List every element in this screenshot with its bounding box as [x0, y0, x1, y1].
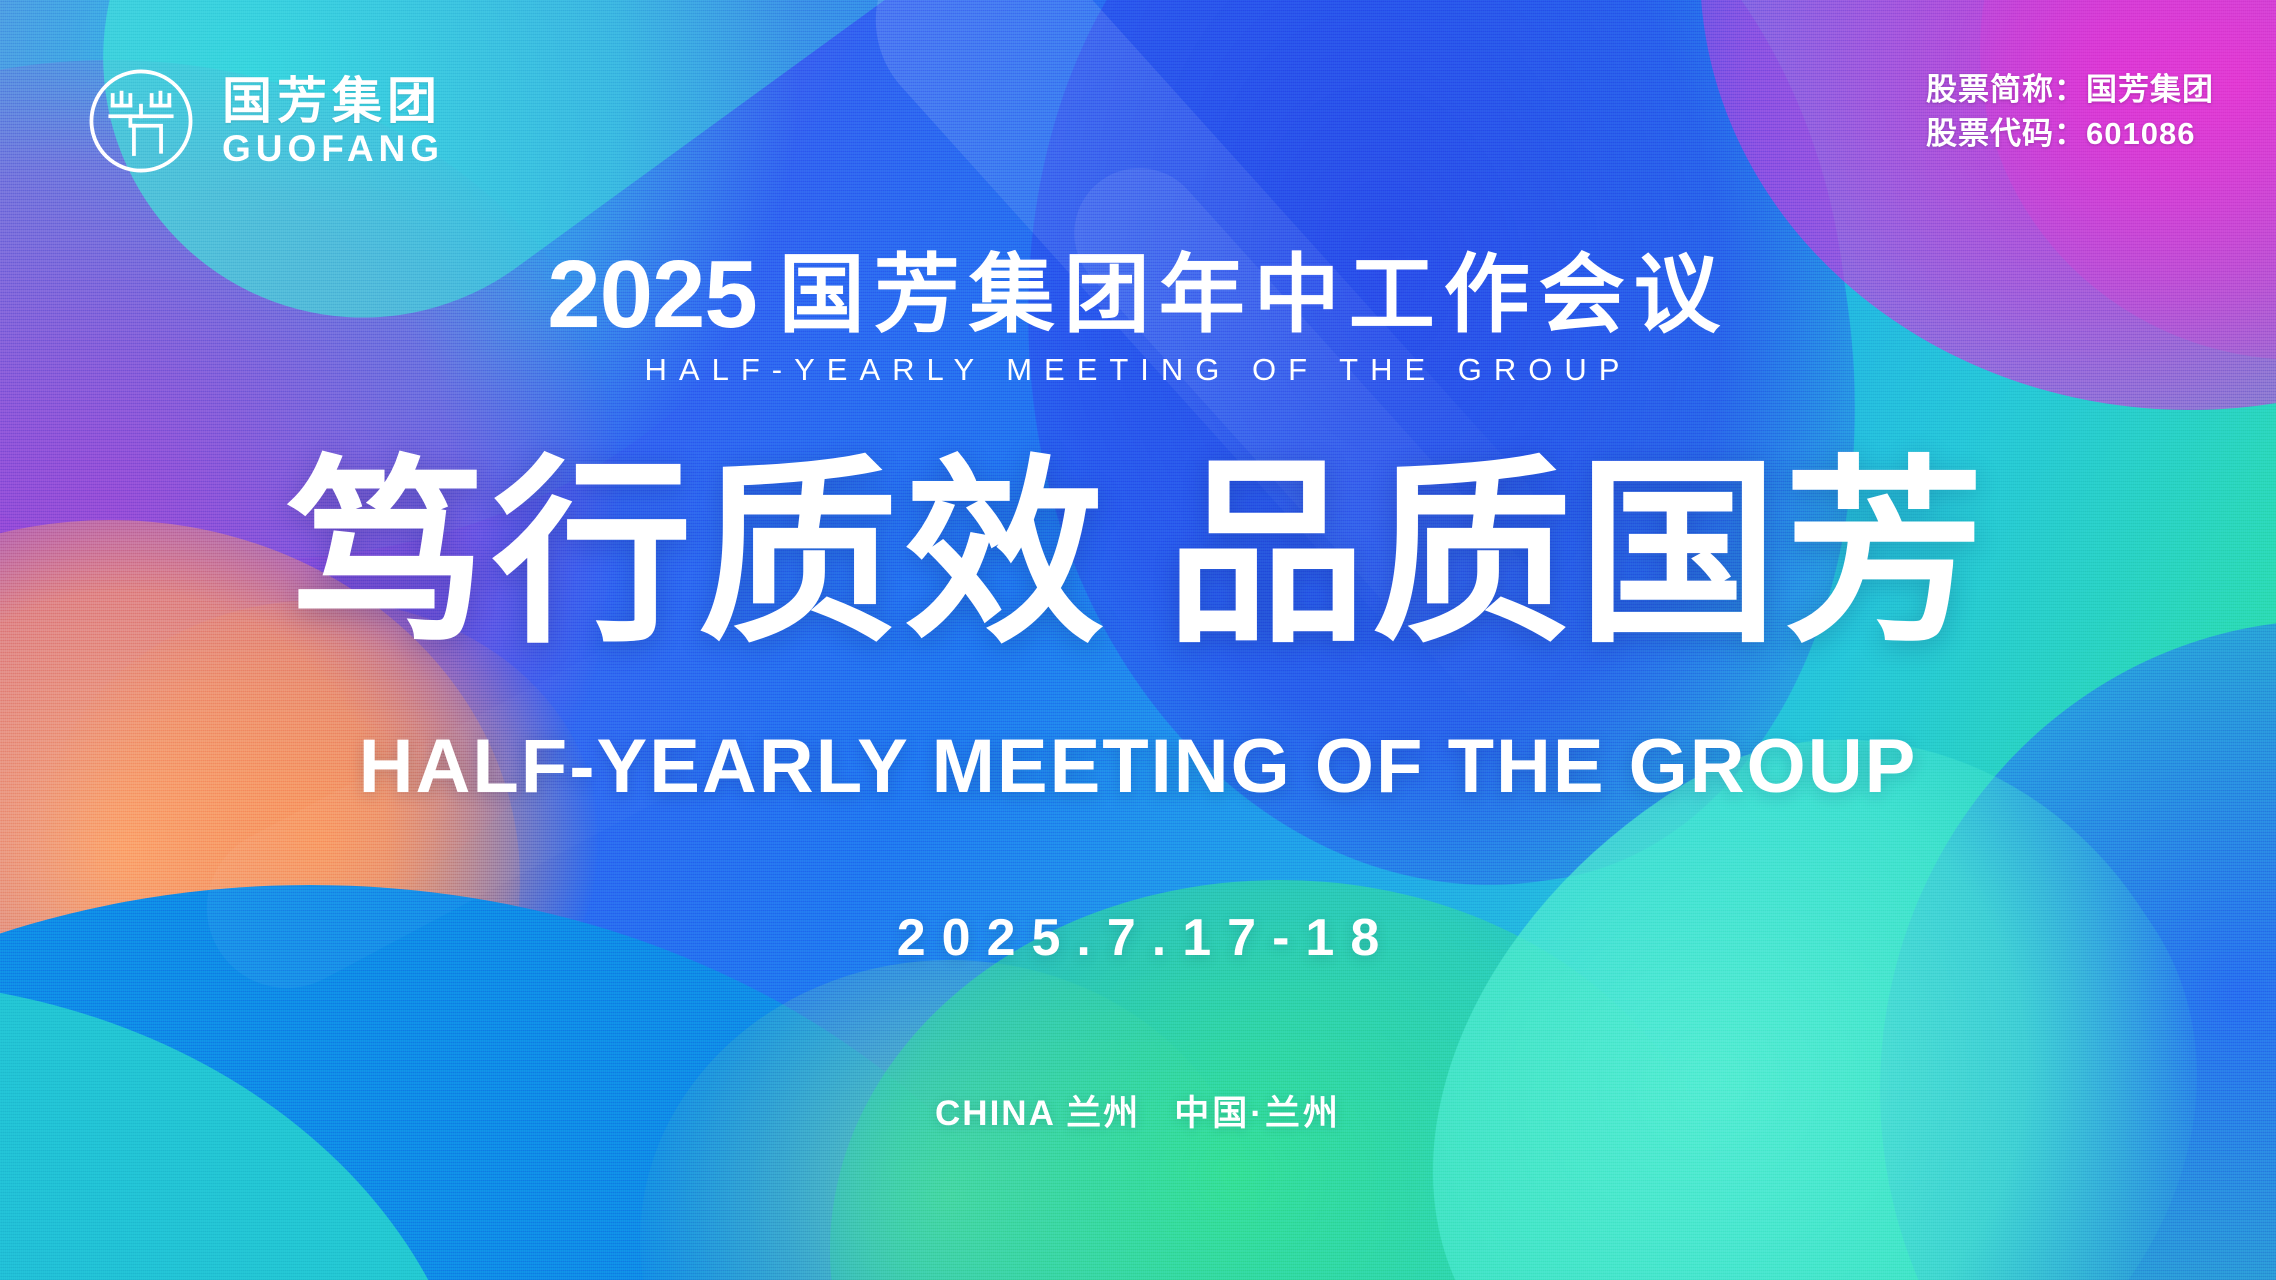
brand-logo: 国芳集团 GUOFANG	[82, 62, 444, 180]
event-location-en: CHINA 兰州	[935, 1094, 1140, 1133]
event-location-cn: 中国·兰州	[1174, 1094, 1341, 1133]
headline-subtitle-en: HALF-YEARLY MEETING OF THE GROUP	[0, 723, 2276, 810]
headline-part-two: 品质国芳	[1166, 443, 1990, 666]
page-title: 笃行质效品质国芳	[0, 455, 2276, 655]
headline-part-one: 笃行质效	[286, 443, 1110, 666]
event-title-block: 2025 国芳集团年中工作会议 HALF-YEARLY MEETING OF T…	[0, 250, 2276, 388]
stock-info: 股票简称：国芳集团 股票代码：601086	[1926, 68, 2214, 156]
event-location: CHINA 兰州中国·兰州	[0, 1085, 2276, 1136]
event-date: 2025.7.17-18	[0, 908, 2276, 968]
event-title-main: 2025 国芳集团年中工作会议	[547, 250, 1729, 340]
event-title-en: HALF-YEARLY MEETING OF THE GROUP	[645, 352, 1632, 388]
brand-name-cn: 国芳集团	[222, 76, 444, 126]
event-year: 2025	[547, 250, 757, 340]
stock-name-line: 股票简称：国芳集团	[1926, 68, 2214, 112]
brand-name-en: GUOFANG	[222, 130, 444, 167]
guofang-circle-emblem-icon	[82, 62, 200, 180]
conference-banner: 国芳集团 GUOFANG 股票简称：国芳集团 股票代码：601086 2025 …	[0, 0, 2276, 1280]
stock-code-line: 股票代码：601086	[1926, 112, 2214, 156]
brand-logo-wordmark: 国芳集团 GUOFANG	[222, 76, 444, 167]
event-title-cn: 国芳集团年中工作会议	[779, 252, 1729, 340]
banner-content: 国芳集团 GUOFANG 股票简称：国芳集团 股票代码：601086 2025 …	[0, 0, 2276, 1280]
